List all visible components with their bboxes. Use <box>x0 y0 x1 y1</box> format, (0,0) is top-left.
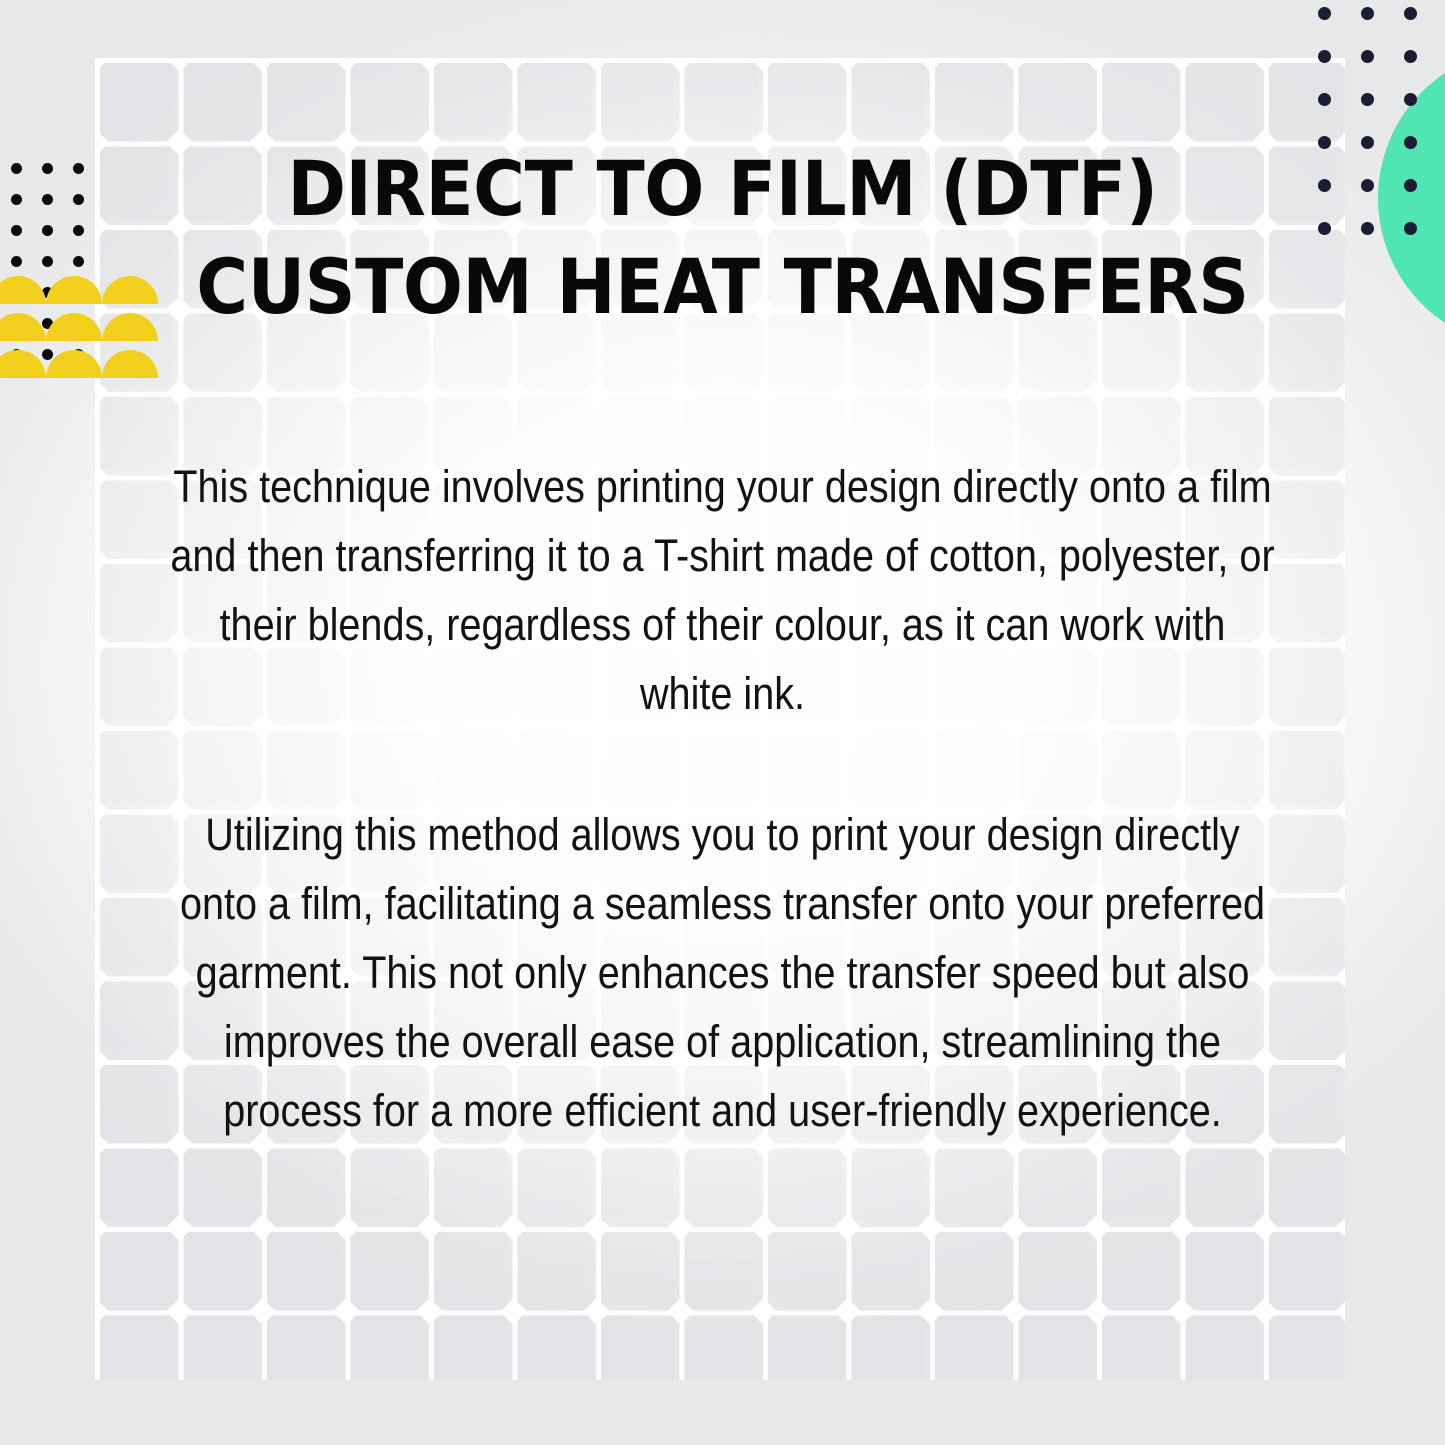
body-paragraph-1: This technique involves printing your de… <box>170 452 1274 728</box>
title-line-2: CUSTOM HEAT TRANSFERS <box>134 238 1310 336</box>
body-copy: This technique involves printing your de… <box>170 452 1274 1145</box>
poster-canvas: DIRECT TO FILM (DTF) CUSTOM HEAT TRANSFE… <box>0 0 1445 1445</box>
title-line-1: DIRECT TO FILM (DTF) <box>134 140 1310 238</box>
body-paragraph-2: Utilizing this method allows you to prin… <box>170 800 1274 1145</box>
page-title: DIRECT TO FILM (DTF) CUSTOM HEAT TRANSFE… <box>134 140 1310 336</box>
poster-content: DIRECT TO FILM (DTF) CUSTOM HEAT TRANSFE… <box>0 0 1445 1445</box>
